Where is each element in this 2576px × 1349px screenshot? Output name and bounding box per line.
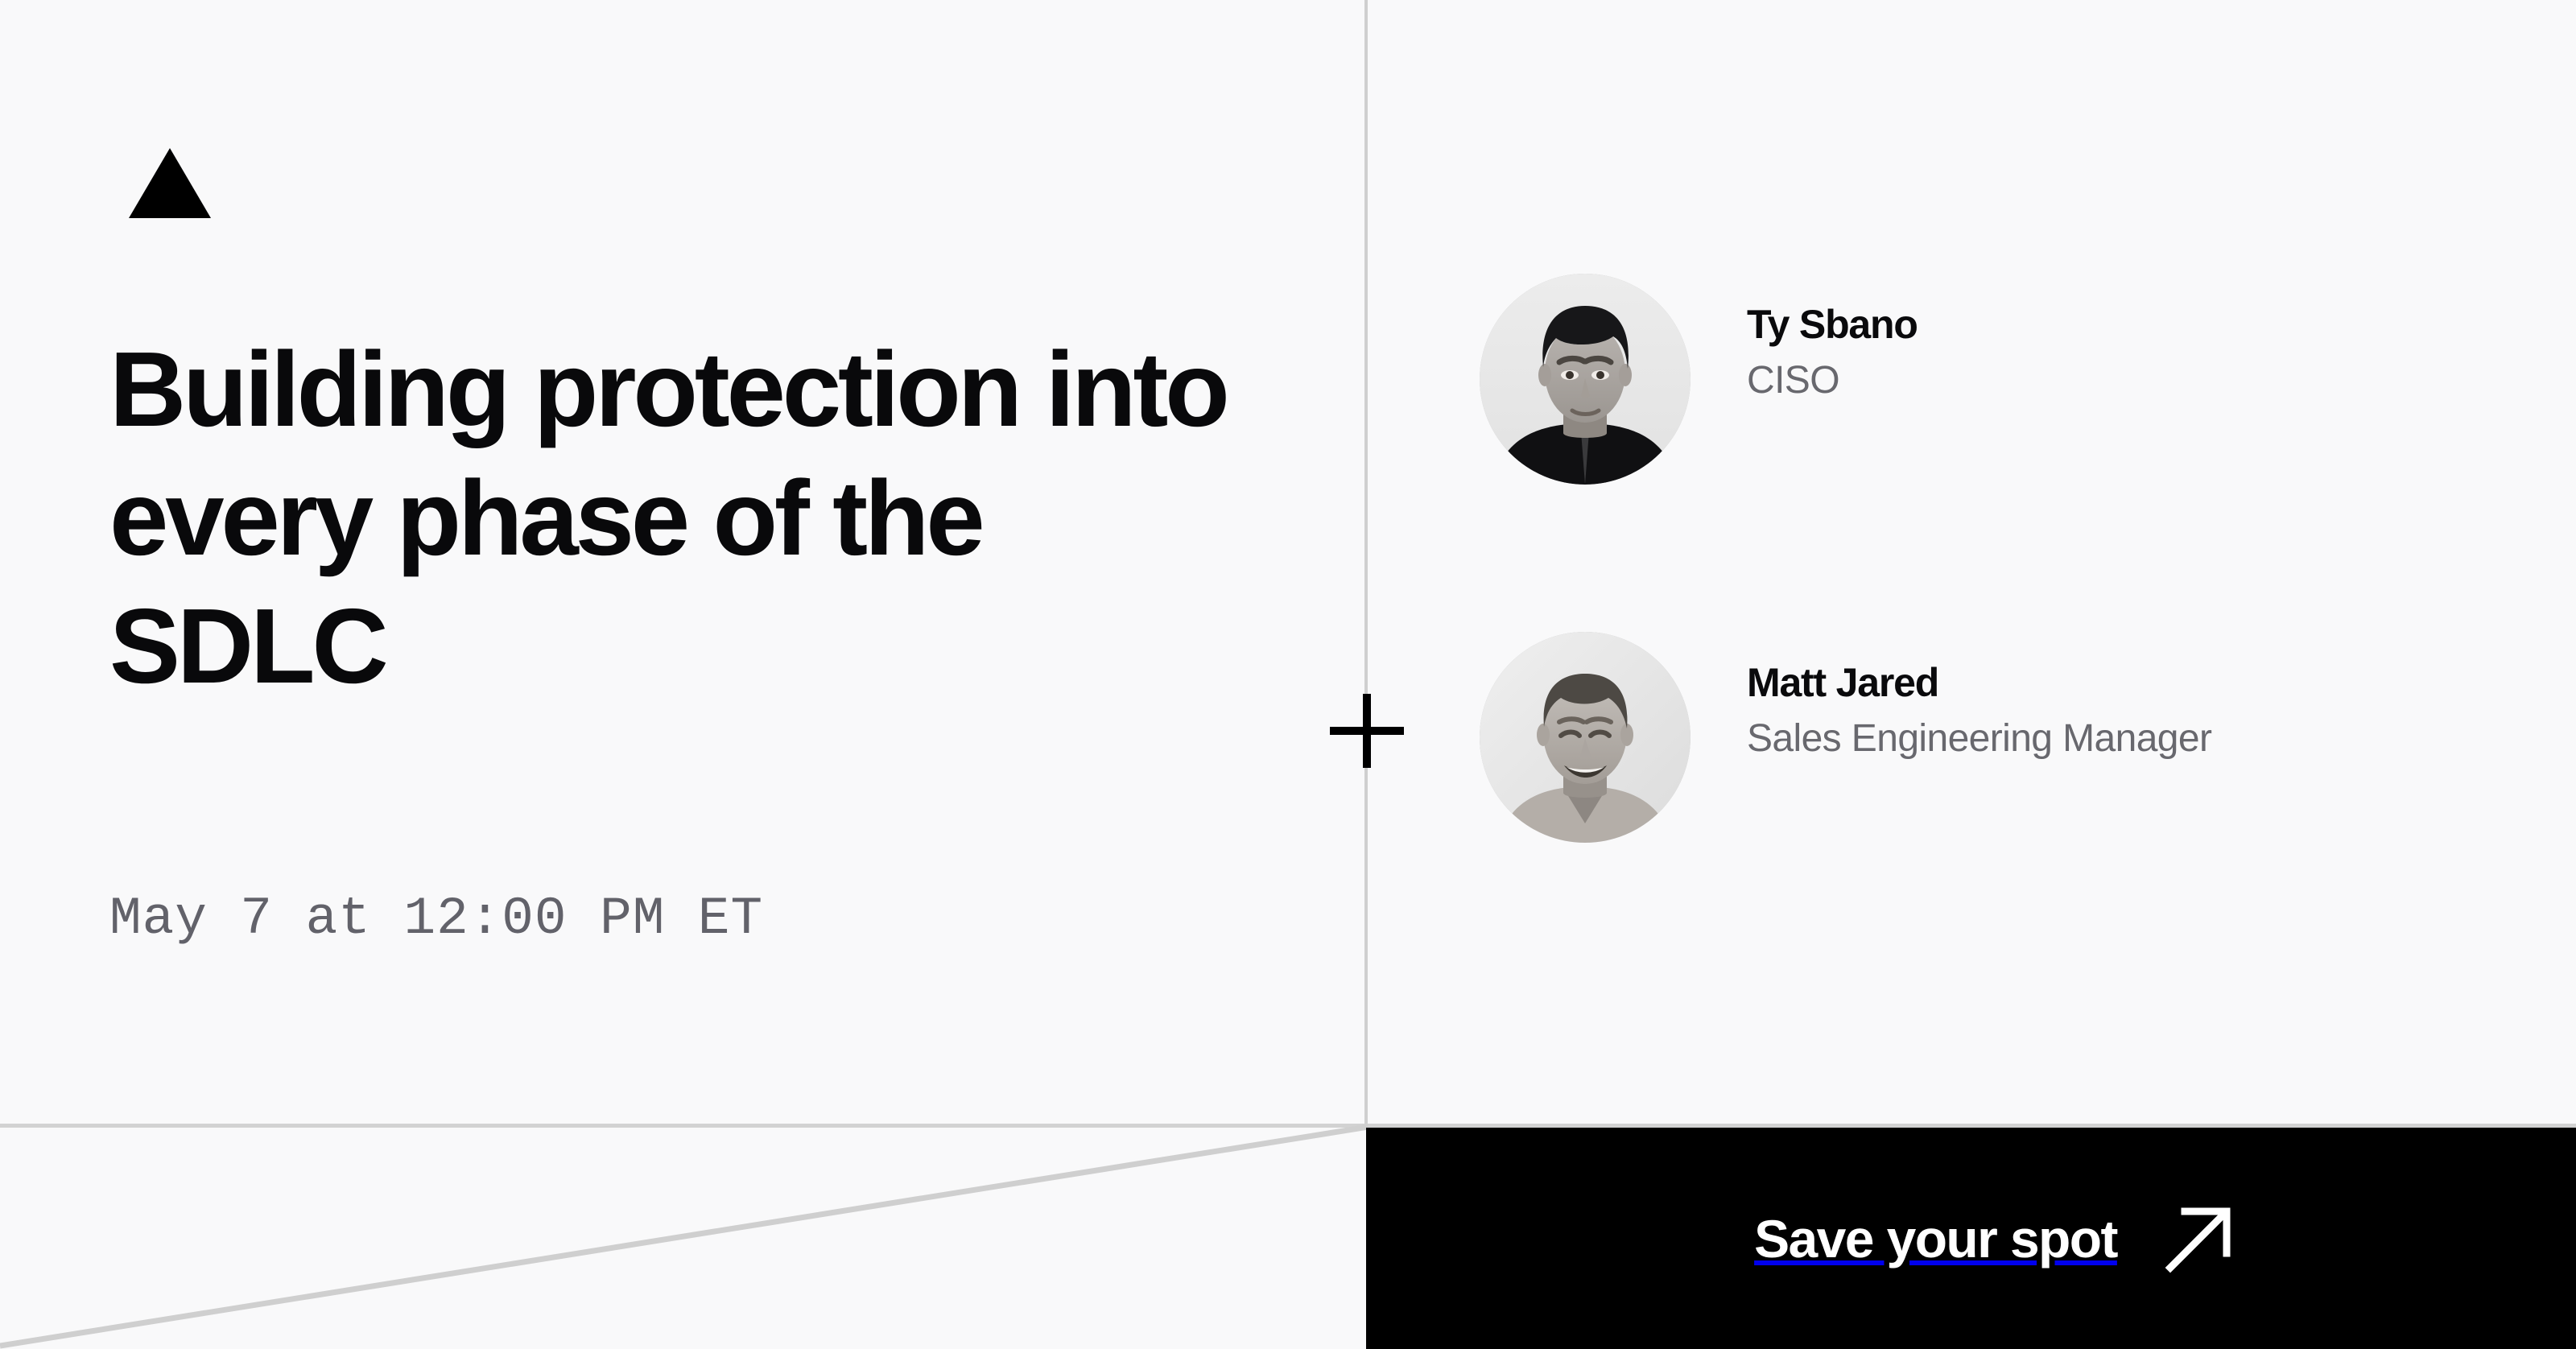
avatar-photo-matt-jared [1480, 632, 1690, 843]
speaker-info: Ty Sbano CISO [1747, 274, 1918, 404]
vertical-divider [1364, 0, 1368, 1127]
speaker-info: Matt Jared Sales Engineering Manager [1747, 632, 2211, 762]
arrow-up-right-icon [2162, 1202, 2236, 1276]
page-title: Building protection into every phase of … [109, 325, 1253, 711]
plus-crosshair-icon [1330, 694, 1404, 768]
avatar-photo-ty-sbano [1480, 274, 1690, 485]
save-your-spot-button[interactable]: Save your spot [1366, 1128, 2576, 1349]
event-datetime: May 7 at 12:00 PM ET [109, 889, 763, 949]
crosshair-vertical-bar [1363, 694, 1371, 768]
cta-label: Save your spot [1754, 1212, 2117, 1265]
avatar [1480, 274, 1690, 485]
webinar-promo-card: Building protection into every phase of … [0, 0, 2576, 1349]
avatar [1480, 632, 1690, 843]
speaker-name: Ty Sbano [1747, 303, 1918, 347]
speaker-role: Sales Engineering Manager [1747, 716, 2211, 762]
triangle-logo-icon [129, 148, 211, 218]
speaker-role: CISO [1747, 358, 1918, 404]
list-item: Matt Jared Sales Engineering Manager [1480, 632, 2510, 843]
diagonal-line [0, 1124, 1368, 1349]
speaker-name: Matt Jared [1747, 661, 2211, 705]
list-item: Ty Sbano CISO [1480, 274, 2510, 485]
speaker-list: Ty Sbano CISO [1480, 274, 2510, 843]
